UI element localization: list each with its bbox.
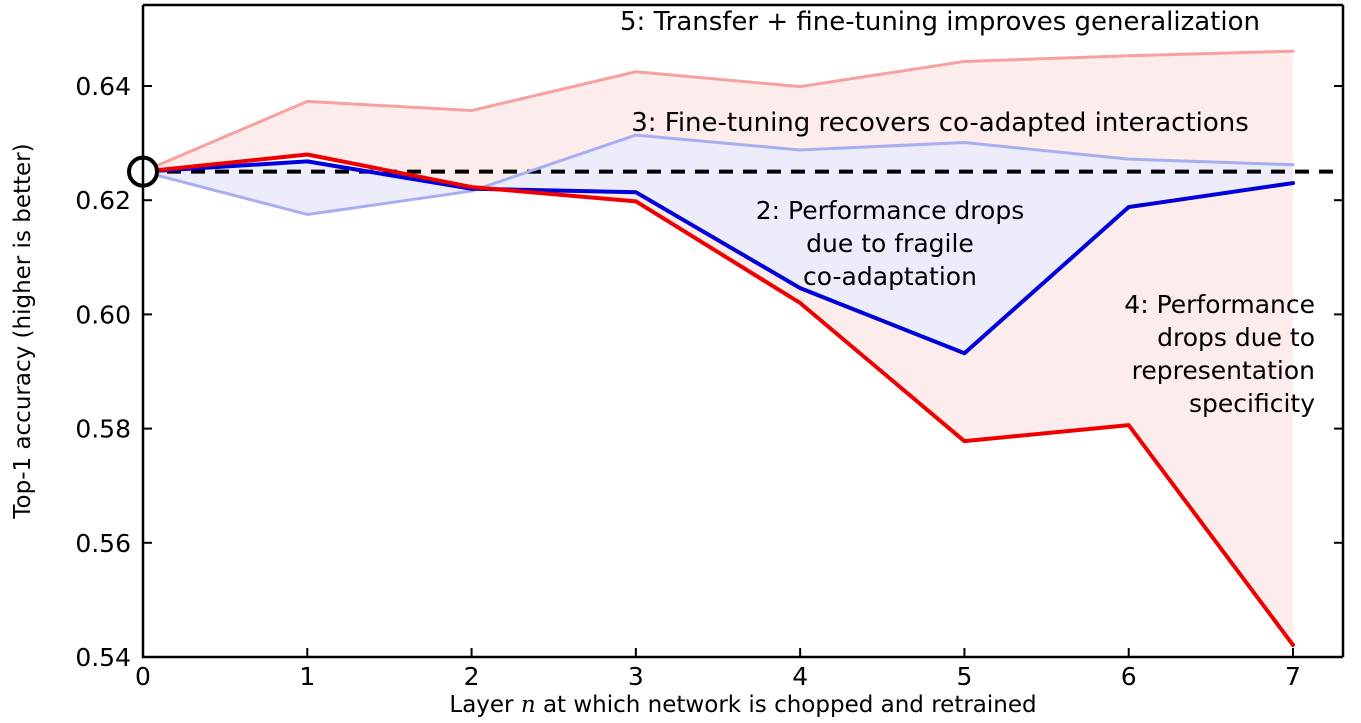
x-axis-title-symbol: n [521, 692, 536, 718]
y-tick-label: 0.62 [75, 186, 131, 215]
x-tick-label: 7 [1285, 662, 1301, 691]
annotation-a2_l3: co-adaptation [803, 262, 977, 291]
y-tick-label: 0.64 [75, 72, 131, 101]
y-tick-label: 0.60 [75, 300, 131, 329]
figure-container: 01234567 0.640.620.600.580.560.54 5: Tra… [0, 0, 1361, 723]
annotation-a4_l4: specificity [1189, 389, 1315, 418]
x-tick-label: 2 [464, 662, 480, 691]
annotation-a5: 5: Transfer + fine-tuning improves gener… [620, 7, 1260, 37]
x-tick-label: 4 [792, 662, 808, 691]
x-tick-label: 3 [628, 662, 644, 691]
y-tick-label: 0.54 [75, 643, 131, 672]
x-tick-label: 6 [1121, 662, 1137, 691]
x-tick-label: 1 [299, 662, 315, 691]
annotation-a4_l2: drops due to [1157, 323, 1315, 352]
annotation-a4_l1: 4: Performance [1124, 290, 1315, 319]
annotation-a4_l3: representation [1132, 356, 1315, 385]
x-axis-title-suffix: at which network is chopped and retraine… [536, 692, 1037, 718]
accuracy-vs-layer-chart: 01234567 0.640.620.600.580.560.54 5: Tra… [0, 0, 1361, 723]
x-axis-title-prefix: Layer [449, 692, 520, 718]
annotation-a3: 3: Fine-tuning recovers co-adapted inter… [631, 108, 1249, 138]
annotation-a2_l1: 2: Performance drops [756, 196, 1024, 225]
annotation-a2_l2: due to fragile [806, 229, 974, 258]
y-axis-title: Top-1 accuracy (higher is better) [10, 143, 36, 519]
y-axis-title-text: Top-1 accuracy (higher is better) [10, 143, 36, 519]
x-axis-title-text: Layer n at which network is chopped and … [449, 692, 1036, 718]
x-tick-label: 0 [135, 662, 151, 691]
x-axis-title: Layer n at which network is chopped and … [449, 692, 1036, 718]
y-tick-label: 0.56 [75, 529, 131, 558]
y-tick-label: 0.58 [75, 415, 131, 444]
x-tick-label: 5 [956, 662, 972, 691]
